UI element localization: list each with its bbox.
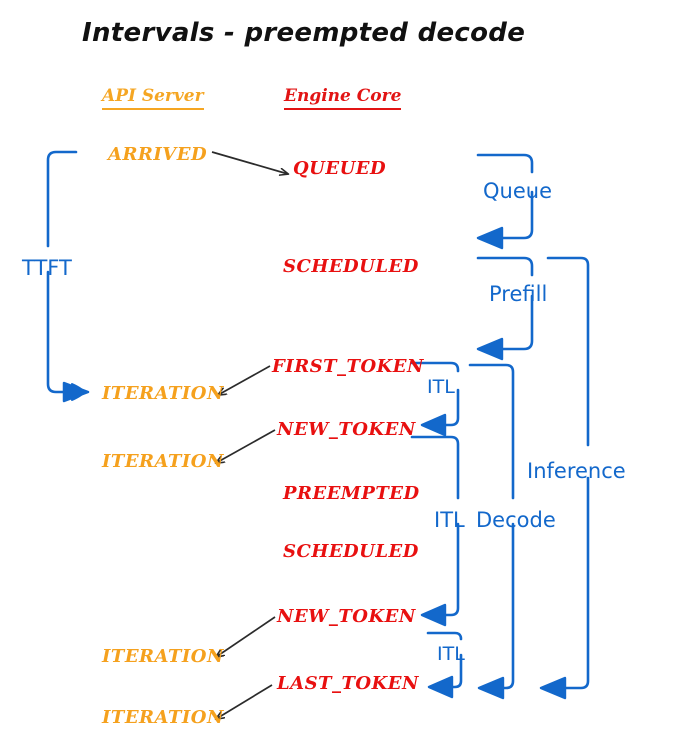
interval-label-queue: Queue — [483, 181, 552, 202]
interval-label-ttft: TTFT — [22, 258, 72, 279]
event-first-token: FIRST_TOKEN — [272, 358, 424, 376]
page-title: Intervals - preempted decode — [82, 20, 525, 46]
event-iteration-2: ITERATION — [102, 453, 224, 471]
event-preempted: PREEMPTED — [283, 485, 420, 503]
interval-label-inference: Inference — [527, 461, 626, 482]
event-new-token-2: NEW_TOKEN — [277, 608, 416, 626]
diagram-canvas: Intervals - preempted decode API Server … — [0, 0, 679, 750]
interval-label-itl-decode: ITL — [434, 510, 465, 531]
interval-bracket-prefill — [478, 258, 532, 359]
transition-arrow-first-token-to-iteration — [218, 366, 270, 395]
event-arrived-1: ARRIVED — [108, 146, 207, 164]
event-scheduled-2: SCHEDULED — [283, 543, 419, 561]
transition-arrow-new-token-2-to-iteration — [216, 617, 275, 657]
transition-arrow-arrived-to-queued — [212, 152, 288, 174]
interval-label-itl-1: ITL — [427, 378, 455, 397]
event-last-token: LAST_TOKEN — [277, 675, 419, 693]
transition-arrow-last-token-to-iteration — [216, 685, 272, 719]
interval-label-decode: Decode — [476, 510, 556, 531]
event-queued-1: QUEUED — [293, 160, 386, 178]
event-scheduled-1: SCHEDULED — [283, 258, 419, 276]
event-new-token-1: NEW_TOKEN — [277, 421, 416, 439]
column-header-engine-core: Engine Core — [284, 88, 401, 105]
column-header-engine-core-label: Engine Core — [284, 86, 401, 110]
event-iteration-3: ITERATION — [102, 648, 224, 666]
transition-arrow-new-token-1-to-iteration — [216, 430, 275, 463]
column-header-api-server: API Server — [102, 88, 204, 105]
event-iteration-1: ITERATION — [102, 385, 224, 403]
interval-label-prefill: Prefill — [489, 284, 547, 305]
event-iteration-4: ITERATION — [102, 709, 224, 727]
interval-label-itl-2: ITL — [437, 645, 465, 664]
column-header-api-server-label: API Server — [102, 86, 204, 110]
